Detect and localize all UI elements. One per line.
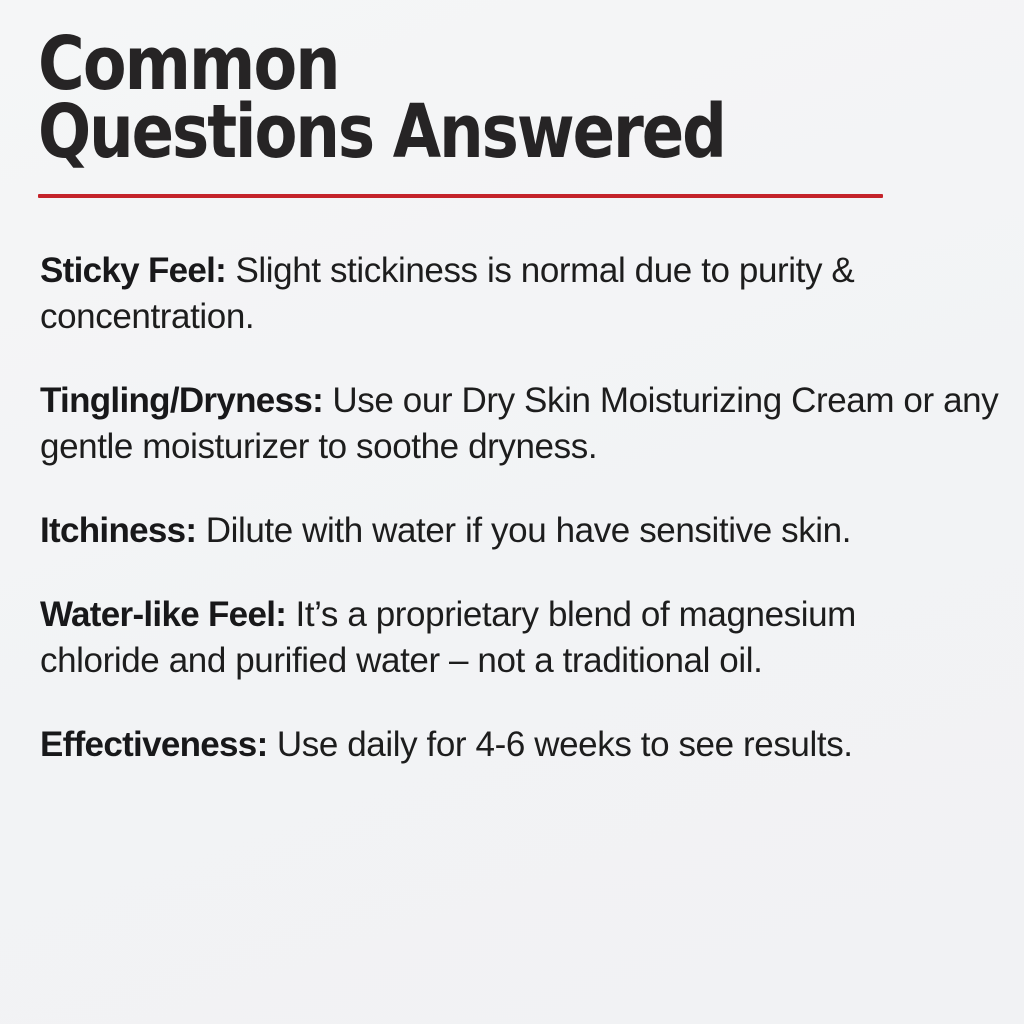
faq-item: Itchiness: Dilute with water if you have… bbox=[40, 508, 985, 554]
faq-item: Tingling/Dryness: Use our Dry Skin Moist… bbox=[40, 378, 1000, 470]
faq-label: Tingling/Dryness: bbox=[40, 381, 323, 420]
faq-item: Water-like Feel: It’s a proprietary blen… bbox=[40, 592, 920, 684]
faq-card: Common Questions Answered Sticky Feel: S… bbox=[0, 0, 1024, 1024]
page-title-line-2: Questions Answered bbox=[38, 98, 841, 166]
faq-label: Itchiness: bbox=[40, 511, 196, 550]
faq-answer: Use daily for 4-6 weeks to see results. bbox=[277, 725, 853, 764]
title-divider bbox=[38, 194, 883, 198]
faq-label: Water-like Feel: bbox=[40, 595, 286, 634]
page-header: Common Questions Answered bbox=[38, 30, 988, 166]
faq-item: Effectiveness: Use daily for 4-6 weeks t… bbox=[40, 722, 940, 768]
faq-answer: Dilute with water if you have sensitive … bbox=[206, 511, 851, 550]
faq-label: Effectiveness: bbox=[40, 725, 268, 764]
page-title-line-1: Common bbox=[38, 30, 855, 98]
faq-item: Sticky Feel: Slight stickiness is normal… bbox=[40, 248, 915, 340]
faq-list: Sticky Feel: Slight stickiness is normal… bbox=[40, 248, 1000, 768]
faq-label: Sticky Feel: bbox=[40, 251, 226, 290]
